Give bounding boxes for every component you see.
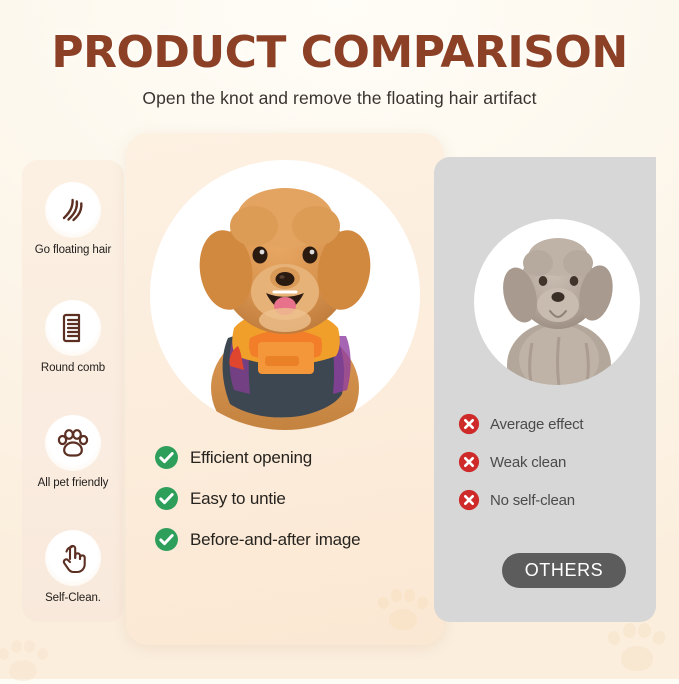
ours-benefit-list: Efficient opening Easy to untie Before-a… xyxy=(154,445,422,568)
benefit-row: Before-and-after image xyxy=(154,527,422,552)
floating-hair-icon xyxy=(45,182,101,238)
feature-label: Go floating hair xyxy=(22,244,124,256)
ours-panel: Efficient opening Easy to untie Before-a… xyxy=(126,133,444,645)
feature-label: All pet friendly xyxy=(22,477,124,489)
feature-round-comb[interactable]: Round comb xyxy=(22,300,124,374)
check-circle-icon xyxy=(154,527,179,552)
others-badge[interactable]: OTHERS xyxy=(502,553,626,588)
drawback-row: Average effect xyxy=(458,413,654,435)
background-paw-icon xyxy=(606,618,668,674)
feature-label: Round comb xyxy=(22,362,124,374)
infographic-canvas: PRODUCT COMPARISON Open the knot and rem… xyxy=(0,0,679,679)
drawback-label: Weak clean xyxy=(490,454,566,471)
feature-self-clean[interactable]: Self-Clean. xyxy=(22,530,124,604)
round-comb-icon xyxy=(45,300,101,356)
header: PRODUCT COMPARISON Open the knot and rem… xyxy=(0,30,679,109)
background-paw-icon xyxy=(0,636,50,684)
others-drawback-list: Average effect Weak clean No self-clean xyxy=(458,413,654,527)
page-title: PRODUCT COMPARISON xyxy=(0,30,679,76)
drawback-label: No self-clean xyxy=(490,492,575,509)
ours-product-photo xyxy=(150,160,420,430)
feature-label: Self-Clean. xyxy=(22,592,124,604)
benefit-label: Before-and-after image xyxy=(190,530,360,550)
drawback-label: Average effect xyxy=(490,416,583,433)
cross-circle-icon xyxy=(458,451,480,473)
drawback-row: Weak clean xyxy=(458,451,654,473)
panel-paw-icon xyxy=(376,585,430,633)
cross-circle-icon xyxy=(458,413,480,435)
cross-circle-icon xyxy=(458,489,480,511)
drawback-row: No self-clean xyxy=(458,489,654,511)
check-circle-icon xyxy=(154,445,179,470)
tap-hand-icon xyxy=(45,530,101,586)
feature-all-pet-friendly[interactable]: All pet friendly xyxy=(22,415,124,489)
check-circle-icon xyxy=(154,486,179,511)
page-subtitle: Open the knot and remove the floating ha… xyxy=(0,88,679,109)
benefit-row: Efficient opening xyxy=(154,445,422,470)
feature-rail: Go floating hair Round comb xyxy=(22,160,124,622)
feature-go-floating-hair[interactable]: Go floating hair xyxy=(22,182,124,256)
benefit-label: Easy to untie xyxy=(190,489,286,509)
paw-icon xyxy=(45,415,101,471)
others-product-photo xyxy=(474,219,640,385)
others-panel: Average effect Weak clean No self-clean … xyxy=(434,157,656,622)
benefit-row: Easy to untie xyxy=(154,486,422,511)
benefit-label: Efficient opening xyxy=(190,448,312,468)
